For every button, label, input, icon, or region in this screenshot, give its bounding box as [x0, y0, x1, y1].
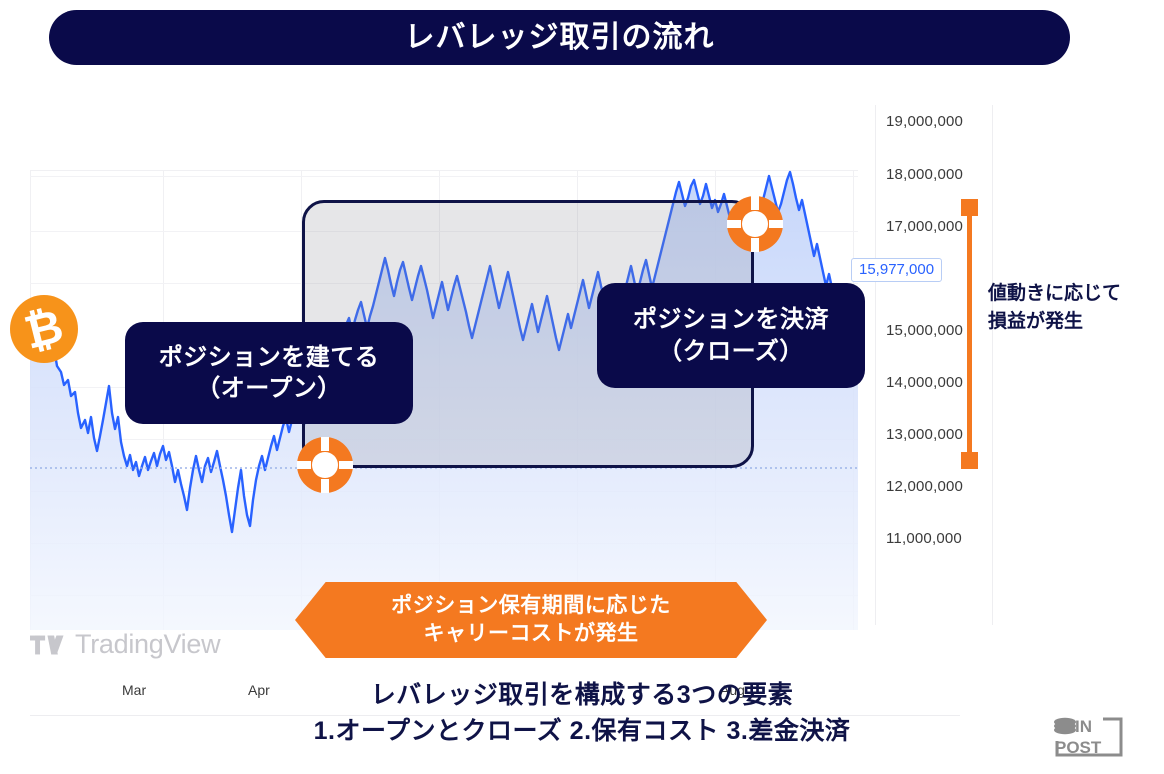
callout-open-line1: ポジションを建てる	[159, 342, 380, 373]
pnl-range-label: 値動きに応じて 損益が発生	[988, 280, 1158, 335]
open-position-marker-icon	[297, 437, 353, 493]
pnl-range-line1: 値動きに応じて	[988, 280, 1158, 308]
tradingview-wordmark: TradingView	[75, 629, 220, 660]
y-tick-label: 13,000,000	[886, 426, 963, 443]
summary-caption-line1: レバレッジ取引を構成する3つの要素	[0, 678, 1164, 714]
bitcoin-icon: ₿	[10, 295, 78, 363]
y-tick-label: 14,000,000	[886, 374, 963, 391]
y-tick-label: 17,000,000	[886, 218, 963, 235]
page-title: レバレッジ取引の流れ	[405, 23, 715, 53]
title-banner: レバレッジ取引の流れ	[49, 10, 1070, 65]
y-tick-label: 12,000,000	[886, 478, 963, 495]
carry-cost-line1: ポジション保有期間に応じた	[391, 592, 671, 620]
tradingview-logo-icon	[30, 633, 64, 657]
y-tick-label: 11,000,000	[886, 530, 962, 547]
y-tick-label: 19,000,000	[886, 113, 963, 130]
y-tick-label: 15,000,000	[886, 322, 963, 339]
summary-caption-line2: 1.オープンとクローズ 2.保有コスト 3.差金決済	[0, 714, 1164, 750]
bitcoin-glyph: ₿	[20, 302, 68, 356]
pnl-range-bracket-icon	[959, 198, 981, 470]
carry-cost-line2: キャリーコストが発生	[424, 620, 639, 648]
callout-open-position: ポジションを建てる （オープン）	[125, 322, 413, 424]
current-price-tag: 15,977,000	[851, 258, 942, 282]
infographic-canvas: レバレッジ取引の流れ	[0, 0, 1164, 774]
carry-cost-banner: ポジション保有期間に応じた キャリーコストが発生	[295, 582, 767, 658]
callout-open-line2: （オープン）	[196, 373, 342, 404]
coinpost-logo: IN POST	[1051, 713, 1131, 759]
pnl-range-line2: 損益が発生	[988, 308, 1158, 336]
y-tick-label: 18,000,000	[886, 166, 963, 183]
callout-close-position: ポジションを決済 （クローズ）	[597, 283, 865, 388]
tradingview-attribution: TradingView	[30, 629, 220, 660]
svg-text:IN: IN	[1075, 717, 1092, 736]
callout-close-line1: ポジションを決済	[633, 304, 829, 335]
summary-caption: レバレッジ取引を構成する3つの要素 1.オープンとクローズ 2.保有コスト 3.…	[0, 678, 1164, 749]
callout-close-line2: （クローズ）	[658, 336, 804, 367]
close-position-marker-icon	[727, 196, 783, 252]
